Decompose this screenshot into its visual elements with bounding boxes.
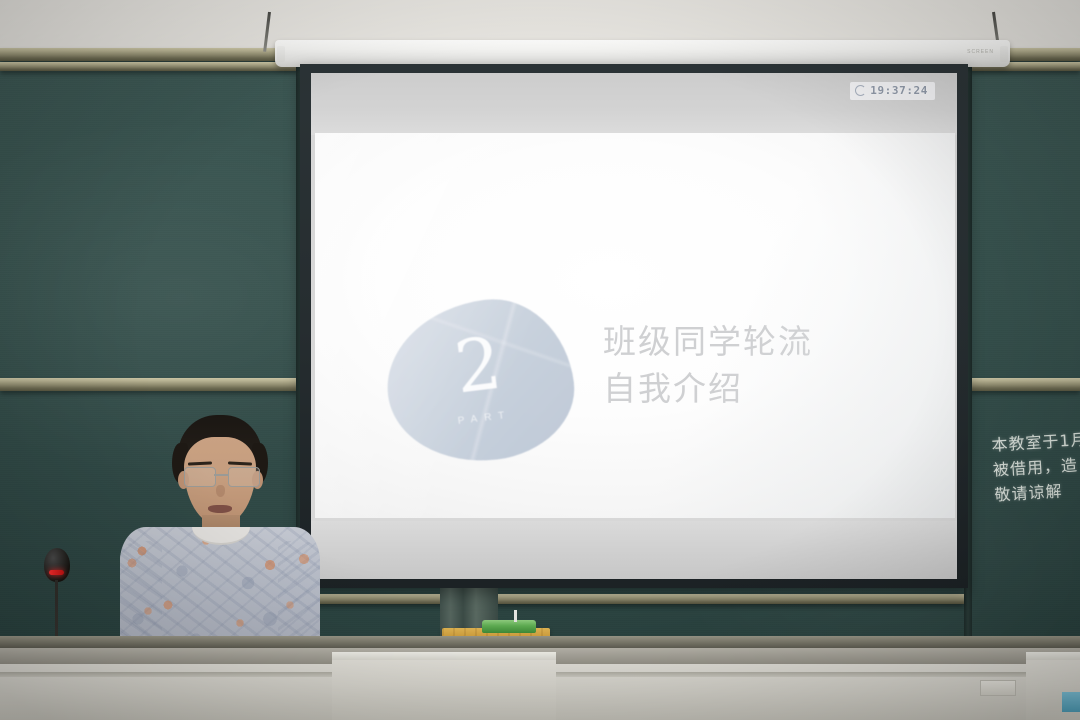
glasses-lens-left	[184, 467, 216, 487]
presenter-mouth	[208, 505, 232, 513]
green-object-antenna	[514, 610, 517, 622]
housing-brand-label: SCREEN	[967, 49, 994, 55]
glasses-icon	[182, 467, 260, 485]
blue-object	[1062, 692, 1080, 712]
microphone-head	[44, 548, 70, 582]
screen-letterbox-bottom	[311, 521, 957, 579]
blackboard-top-rail-left-2	[0, 62, 300, 71]
green-object	[482, 620, 536, 633]
microphone-led-indicator	[49, 570, 64, 575]
glasses-lens-right	[228, 467, 260, 487]
projector-screen-housing: SCREEN	[275, 40, 1010, 67]
projection-glare	[315, 133, 955, 518]
podium-block	[332, 652, 556, 720]
presenter-nose	[216, 485, 225, 497]
timestamp-text: 19:37:24	[870, 84, 928, 97]
podium-block-edge	[332, 652, 556, 660]
projector-screen-surface: 2 PART 班级同学轮流 自我介绍 19:37:24	[311, 73, 957, 579]
blackboard-lower-rail-center	[300, 594, 964, 604]
counter-latch	[980, 680, 1016, 696]
projected-slide: 2 PART 班级同学轮流 自我介绍	[315, 133, 955, 518]
classroom-scene-photo: 本教室于1月 被借用，造 敬请谅解 SCREEN 2 PART	[0, 0, 1080, 720]
glasses-bridge	[214, 474, 228, 476]
blackboard-mid-rail-left	[0, 378, 300, 391]
chalk-note: 本教室于1月 被借用，造 敬请谅解	[991, 426, 1080, 508]
blackboard-mid-rail-right	[968, 378, 1080, 391]
housing-cap-left	[277, 46, 285, 62]
housing-cap-right	[1000, 46, 1008, 62]
clock-icon	[855, 85, 866, 96]
side-desk-block-edge	[1026, 652, 1080, 660]
projector-screen-frame: 2 PART 班级同学轮流 自我介绍 19:37:24	[300, 64, 968, 588]
blackboard-top-rail-left	[0, 48, 300, 61]
timestamp-badge: 19:37:24	[850, 82, 935, 100]
